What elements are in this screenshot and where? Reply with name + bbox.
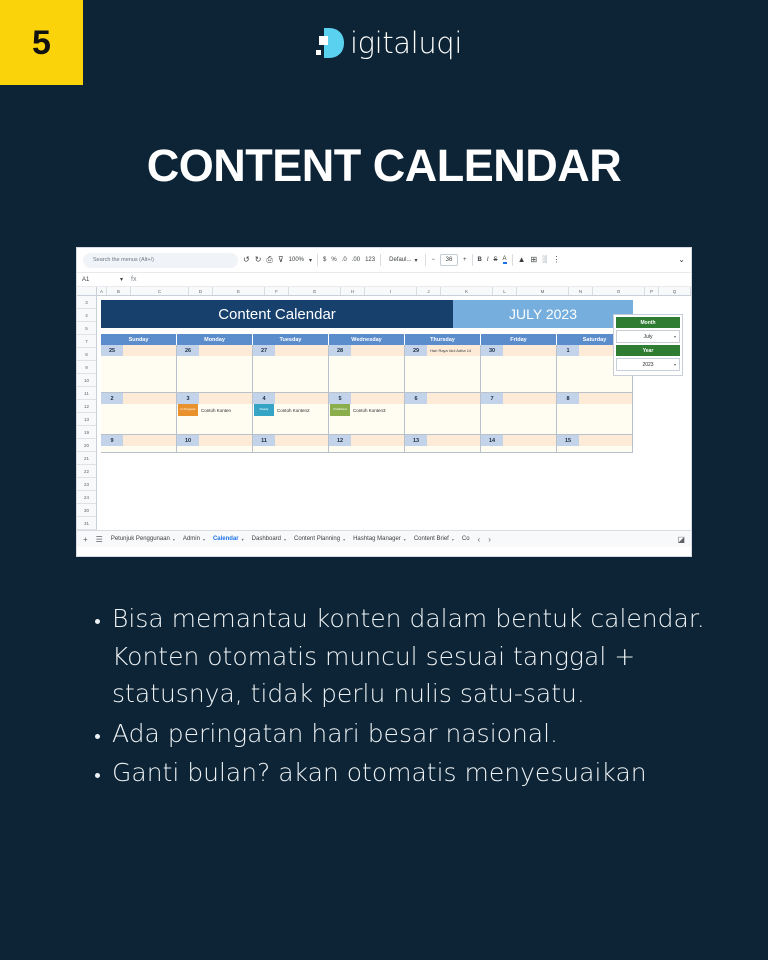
day-number-strip: 28 — [329, 345, 404, 356]
column-header[interactable]: K — [441, 287, 493, 295]
more-formats-icon[interactable]: 123 — [365, 257, 375, 263]
text-color-icon[interactable]: A — [503, 256, 507, 264]
grid-cells: Content Calendar JULY 2023 Sunday Monday… — [97, 296, 691, 530]
row-header[interactable]: 4 — [77, 309, 96, 322]
holiday-label — [351, 345, 404, 356]
column-header[interactable]: H — [341, 287, 365, 295]
calendar-day-cell[interactable]: 26 — [177, 345, 253, 392]
holiday-label — [275, 435, 328, 446]
sheet-tab-truncated[interactable]: Co — [462, 536, 470, 542]
day-number-strip: 26 — [177, 345, 252, 356]
entry-title: Contoh Konten — [201, 408, 231, 413]
calendar-week-row: 9 10 11 — [101, 435, 633, 453]
row-header[interactable]: 23 — [77, 478, 96, 491]
calendar-day-cell[interactable]: 30 — [481, 345, 557, 392]
day-number-strip: 7 — [481, 393, 556, 404]
content-entry[interactable]: Ready Contoh Konten2 — [253, 404, 328, 416]
row-header[interactable]: 19 — [77, 426, 96, 439]
row-header[interactable]: 5 — [77, 322, 96, 335]
font-size-input[interactable]: 36 — [440, 254, 458, 266]
calendar-day-cell[interactable]: 28 — [329, 345, 405, 392]
holiday-label — [503, 393, 556, 404]
row-header[interactable]: 8 — [77, 348, 96, 361]
scroll-left-icon[interactable]: ‹ — [478, 535, 481, 544]
sheet-tab-label: Co — [462, 536, 470, 542]
calendar-day-cell[interactable]: 25 — [101, 345, 177, 392]
toolbar-divider-2 — [380, 254, 381, 266]
calendar-grid: Sunday Monday Tuesday Wednesday Thursday… — [101, 334, 633, 453]
holiday-label — [503, 435, 556, 446]
holiday-label — [123, 393, 176, 404]
day-header: Wednesday — [329, 334, 405, 345]
day-number: 29 — [405, 345, 427, 356]
column-header[interactable]: E — [213, 287, 265, 295]
day-number-strip: 12 — [329, 435, 404, 446]
day-number-strip: 10 — [177, 435, 252, 446]
row-header[interactable]: 30 — [77, 504, 96, 517]
name-box[interactable]: A1 — [82, 277, 112, 283]
sheet-tab-label: Admin — [183, 536, 200, 542]
day-number: 7 — [481, 393, 503, 404]
bullet-item: Bisa memantau konten dalam bentuk calend… — [112, 600, 706, 713]
sheet-tab-content-planning[interactable]: Content Planning ▾ — [294, 536, 345, 542]
formula-icon: fx — [131, 276, 136, 283]
bold-icon[interactable]: B — [478, 257, 482, 263]
month-year-control-panel: Month July Year 2023 — [613, 314, 683, 376]
holiday-label — [123, 435, 176, 446]
day-header: Sunday — [101, 334, 177, 345]
font-family-select[interactable]: Defaul... ▾ — [386, 255, 420, 266]
calendar-day-cell[interactable]: 29 Hari Raya Idul Adha 14 — [405, 345, 481, 392]
calendar-day-cell[interactable]: 2 — [101, 393, 177, 434]
search-input[interactable]: Search the menus (Alt+/) — [83, 253, 238, 268]
holiday-label — [351, 435, 404, 446]
decrease-font-size-button[interactable]: − — [431, 257, 435, 263]
holiday-label — [275, 393, 328, 404]
holiday-label — [503, 345, 556, 356]
bullet-item: Ada peringatan hari besar nasional. — [112, 715, 706, 753]
column-header[interactable]: Q — [659, 287, 691, 295]
calendar-week-row: 25 26 27 — [101, 345, 633, 393]
holiday-label: Hari Raya Idul Adha 14 — [427, 345, 480, 356]
entry-title: Contoh Konten3 — [353, 408, 386, 413]
row-header[interactable]: 3 — [77, 296, 96, 309]
calendar-day-cell[interactable]: 9 — [101, 435, 177, 452]
calendar-day-cell[interactable]: 4 Ready Contoh Konten2 — [253, 393, 329, 434]
all-sheets-icon[interactable]: ☰ — [96, 535, 103, 544]
day-number: 1 — [557, 345, 579, 356]
italic-icon[interactable]: I — [487, 257, 489, 263]
holiday-label — [351, 393, 404, 404]
row-header[interactable]: 21 — [77, 452, 96, 465]
chevron-down-icon[interactable]: ▾ — [173, 537, 175, 542]
borders-icon[interactable]: ⊞ — [530, 256, 537, 264]
calendar-day-cell[interactable]: 15 — [557, 435, 633, 452]
day-number-strip: 30 — [481, 345, 556, 356]
calendar-day-cell[interactable]: 13 — [405, 435, 481, 452]
column-header[interactable]: M — [517, 287, 569, 295]
day-number: 10 — [177, 435, 199, 446]
calendar-week-row: 2 3 In Progress Contoh Konten — [101, 393, 633, 435]
row-header[interactable]: 13 — [77, 413, 96, 426]
toolbar-divider-5 — [512, 254, 513, 266]
calendar-day-cell[interactable]: 7 — [481, 393, 557, 434]
bullet-item: Ganti bulan? akan otomatis menyesuaikan — [112, 754, 706, 792]
status-badge: Ready — [254, 404, 274, 416]
name-box-caret-icon[interactable]: ▾ — [120, 276, 123, 283]
day-number: 12 — [329, 435, 351, 446]
calendar-day-cell[interactable]: 27 — [253, 345, 329, 392]
day-number: 15 — [557, 435, 579, 446]
print-icon[interactable]: ⎙ — [266, 256, 272, 264]
holiday-label — [275, 345, 328, 356]
increase-decimal-icon[interactable]: .00 — [352, 257, 360, 263]
day-number: 26 — [177, 345, 199, 356]
select-all-corner[interactable] — [77, 287, 97, 295]
zoom-level[interactable]: 100% — [289, 257, 304, 263]
collapse-toolbar-icon[interactable]: ⌄ — [678, 256, 685, 264]
column-header[interactable]: P — [645, 287, 659, 295]
content-entry[interactable]: In Progress Contoh Konten — [177, 404, 252, 416]
digitaluqi-d-icon — [306, 22, 348, 64]
currency-icon[interactable]: $ — [323, 257, 326, 263]
month-label: Month — [616, 317, 680, 328]
day-number-strip: 14 — [481, 435, 556, 446]
fill-color-icon[interactable]: ▲ — [518, 256, 526, 264]
page-title: CONTENT CALENDAR — [0, 140, 768, 192]
column-header[interactable]: F — [265, 287, 289, 295]
holiday-label — [199, 435, 252, 446]
holiday-label — [427, 393, 480, 404]
column-header[interactable]: J — [417, 287, 441, 295]
sheet-tab-label: Calendar — [213, 536, 239, 542]
bullet-list-section: Bisa memantau konten dalam bentuk calend… — [86, 600, 706, 794]
sheet-tab-admin[interactable]: Admin ▾ — [183, 536, 205, 542]
day-number: 14 — [481, 435, 503, 446]
holiday-label — [579, 393, 632, 404]
day-header: Thursday — [405, 334, 481, 345]
row-header-column: 3 4 5 7 8 9 10 11 12 13 19 20 21 22 23 2… — [77, 296, 97, 530]
day-header: Monday — [177, 334, 253, 345]
calendar-title: Content Calendar — [101, 300, 453, 328]
row-header[interactable]: 22 — [77, 465, 96, 478]
brand-name: igitaluqi — [350, 26, 462, 60]
year-select[interactable]: 2023 — [616, 358, 680, 371]
day-number: 4 — [253, 393, 275, 404]
calendar-day-cell[interactable]: 11 — [253, 435, 329, 452]
day-number-strip: 25 — [101, 345, 176, 356]
day-number-strip: 9 — [101, 435, 176, 446]
row-header[interactable]: 20 — [77, 439, 96, 452]
month-select[interactable]: July — [616, 330, 680, 343]
day-number: 13 — [405, 435, 427, 446]
day-number-strip: 5 — [329, 393, 404, 404]
day-number-strip: 6 — [405, 393, 480, 404]
sheet-tab-label: Content Planning — [294, 536, 340, 542]
toolbar-divider-3 — [425, 254, 426, 266]
formula-bar: A1 ▾ fx — [77, 272, 691, 287]
calendar-day-headers: Sunday Monday Tuesday Wednesday Thursday… — [101, 334, 633, 345]
day-number: 8 — [557, 393, 579, 404]
row-header[interactable]: 31 — [77, 517, 96, 530]
sheet-tab-label: Petunjuk Penggunaan — [111, 536, 170, 542]
title-section: CONTENT CALENDAR — [0, 140, 768, 192]
spreadsheet-toolbar: Search the menus (Alt+/) ↺ ↻ ⎙ ⊽ 100% ▾ … — [77, 248, 691, 272]
holiday-label — [199, 393, 252, 404]
day-number-strip: 2 — [101, 393, 176, 404]
row-header[interactable]: 7 — [77, 335, 96, 348]
add-sheet-icon[interactable]: + — [83, 535, 88, 544]
merge-cells-icon[interactable]: ⫿⫿ — [542, 256, 547, 264]
column-header-row: A B C D E F G H I J K L M N O P Q — [77, 287, 691, 296]
toolbar-divider — [317, 254, 318, 266]
sheet-tab-label: Hashtag Manager — [353, 536, 401, 542]
brand-logo: igitaluqi — [0, 22, 768, 64]
day-number-strip: 4 — [253, 393, 328, 404]
increase-font-size-button[interactable]: + — [463, 257, 467, 263]
font-family-value: Defaul... — [389, 257, 411, 263]
spreadsheet-screenshot: Search the menus (Alt+/) ↺ ↻ ⎙ ⊽ 100% ▾ … — [76, 247, 692, 557]
chevron-down-icon[interactable]: ▾ — [203, 537, 205, 542]
day-number: 9 — [101, 435, 123, 446]
chevron-down-icon[interactable]: ▾ — [343, 537, 345, 542]
entry-title: Contoh Konten2 — [277, 408, 310, 413]
column-header[interactable]: B — [107, 287, 131, 295]
sheet-tab-dashboard[interactable]: Dashboard ▾ — [252, 536, 286, 542]
holiday-label — [123, 345, 176, 356]
calendar-month-year: JULY 2023 — [453, 300, 633, 328]
row-header[interactable]: 24 — [77, 491, 96, 504]
spreadsheet-grid: 3 4 5 7 8 9 10 11 12 13 19 20 21 22 23 2… — [77, 296, 691, 530]
column-header[interactable]: L — [493, 287, 517, 295]
sheet-tab-petunjuk-penggunaan[interactable]: Petunjuk Penggunaan ▾ — [111, 536, 175, 542]
percent-icon[interactable]: % — [331, 257, 336, 263]
column-header[interactable]: G — [289, 287, 341, 295]
day-header: Tuesday — [253, 334, 329, 345]
holiday-label — [199, 345, 252, 356]
slide-header: 5 igitaluqi — [0, 0, 768, 85]
calendar-day-cell[interactable]: 3 In Progress Contoh Konten — [177, 393, 253, 434]
day-number-strip: 15 — [557, 435, 632, 446]
toolbar-divider-4 — [472, 254, 473, 266]
day-number: 2 — [101, 393, 123, 404]
strikethrough-icon[interactable]: S — [494, 257, 498, 263]
day-number: 11 — [253, 435, 275, 446]
paint-format-icon[interactable]: ⊽ — [278, 256, 284, 264]
row-header[interactable]: 9 — [77, 361, 96, 374]
calendar-day-cell[interactable]: 12 — [329, 435, 405, 452]
sheet-tab-calendar[interactable]: Calendar ▾ — [213, 536, 244, 542]
calendar-title-bar: Content Calendar JULY 2023 — [101, 300, 691, 328]
holiday-label — [427, 435, 480, 446]
sheet-tab-label: Dashboard — [252, 536, 281, 542]
sheet-tab-bar: + ☰ Petunjuk Penggunaan ▾ Admin ▾ Calend… — [77, 530, 691, 547]
day-number: 25 — [101, 345, 123, 356]
column-header[interactable]: O — [593, 287, 645, 295]
column-header[interactable]: A — [97, 287, 107, 295]
calendar-day-cell[interactable]: 8 — [557, 393, 633, 434]
day-number-strip: 11 — [253, 435, 328, 446]
more-options-icon[interactable]: ⋮ — [552, 256, 560, 264]
column-header[interactable]: D — [189, 287, 213, 295]
calendar-day-cell[interactable]: 10 — [177, 435, 253, 452]
chevron-down-icon: ▾ — [414, 257, 417, 264]
column-header[interactable]: C — [131, 287, 189, 295]
explore-icon[interactable]: ◪ — [677, 535, 685, 544]
content-entry[interactable]: Published Contoh Konten3 — [329, 404, 404, 416]
row-header[interactable]: 12 — [77, 400, 96, 413]
holiday-label — [579, 435, 632, 446]
calendar-day-cell[interactable]: 14 — [481, 435, 557, 452]
year-label: Year — [616, 345, 680, 356]
sheet-tab-hashtag-manager[interactable]: Hashtag Manager ▾ — [353, 536, 406, 542]
day-number: 30 — [481, 345, 503, 356]
chevron-down-icon[interactable]: ▾ — [284, 537, 286, 542]
column-header[interactable]: I — [365, 287, 417, 295]
row-header[interactable]: 10 — [77, 374, 96, 387]
day-number-strip: 27 — [253, 345, 328, 356]
calendar-day-cell[interactable]: 6 — [405, 393, 481, 434]
sheet-tab-label: Content Brief — [414, 536, 449, 542]
day-number: 28 — [329, 345, 351, 356]
chevron-down-icon[interactable]: ▾ — [404, 537, 406, 542]
scroll-right-icon[interactable]: › — [488, 535, 491, 544]
day-number-strip: 3 — [177, 393, 252, 404]
day-number-strip: 13 — [405, 435, 480, 446]
zoom-caret-icon[interactable]: ▾ — [309, 257, 312, 264]
chevron-down-icon[interactable]: ▾ — [452, 537, 454, 542]
sheet-tab-content-brief[interactable]: Content Brief ▾ — [414, 536, 454, 542]
decrease-decimal-icon[interactable]: .0 — [342, 257, 347, 263]
chevron-down-icon[interactable]: ▾ — [242, 537, 244, 542]
day-number-strip: 29 Hari Raya Idul Adha 14 — [405, 345, 480, 356]
calendar-day-cell[interactable]: 5 Published Contoh Konten3 — [329, 393, 405, 434]
bullet-list: Bisa memantau konten dalam bentuk calend… — [86, 600, 706, 792]
redo-icon[interactable]: ↻ — [255, 256, 262, 264]
day-header: Friday — [481, 334, 557, 345]
day-number: 6 — [405, 393, 427, 404]
row-header[interactable]: 11 — [77, 387, 96, 400]
column-header[interactable]: N — [569, 287, 593, 295]
undo-icon[interactable]: ↺ — [243, 256, 250, 264]
day-number-strip: 8 — [557, 393, 632, 404]
day-number: 3 — [177, 393, 199, 404]
day-number: 27 — [253, 345, 275, 356]
status-badge: Published — [330, 404, 350, 416]
status-badge: In Progress — [178, 404, 198, 416]
day-number: 5 — [329, 393, 351, 404]
